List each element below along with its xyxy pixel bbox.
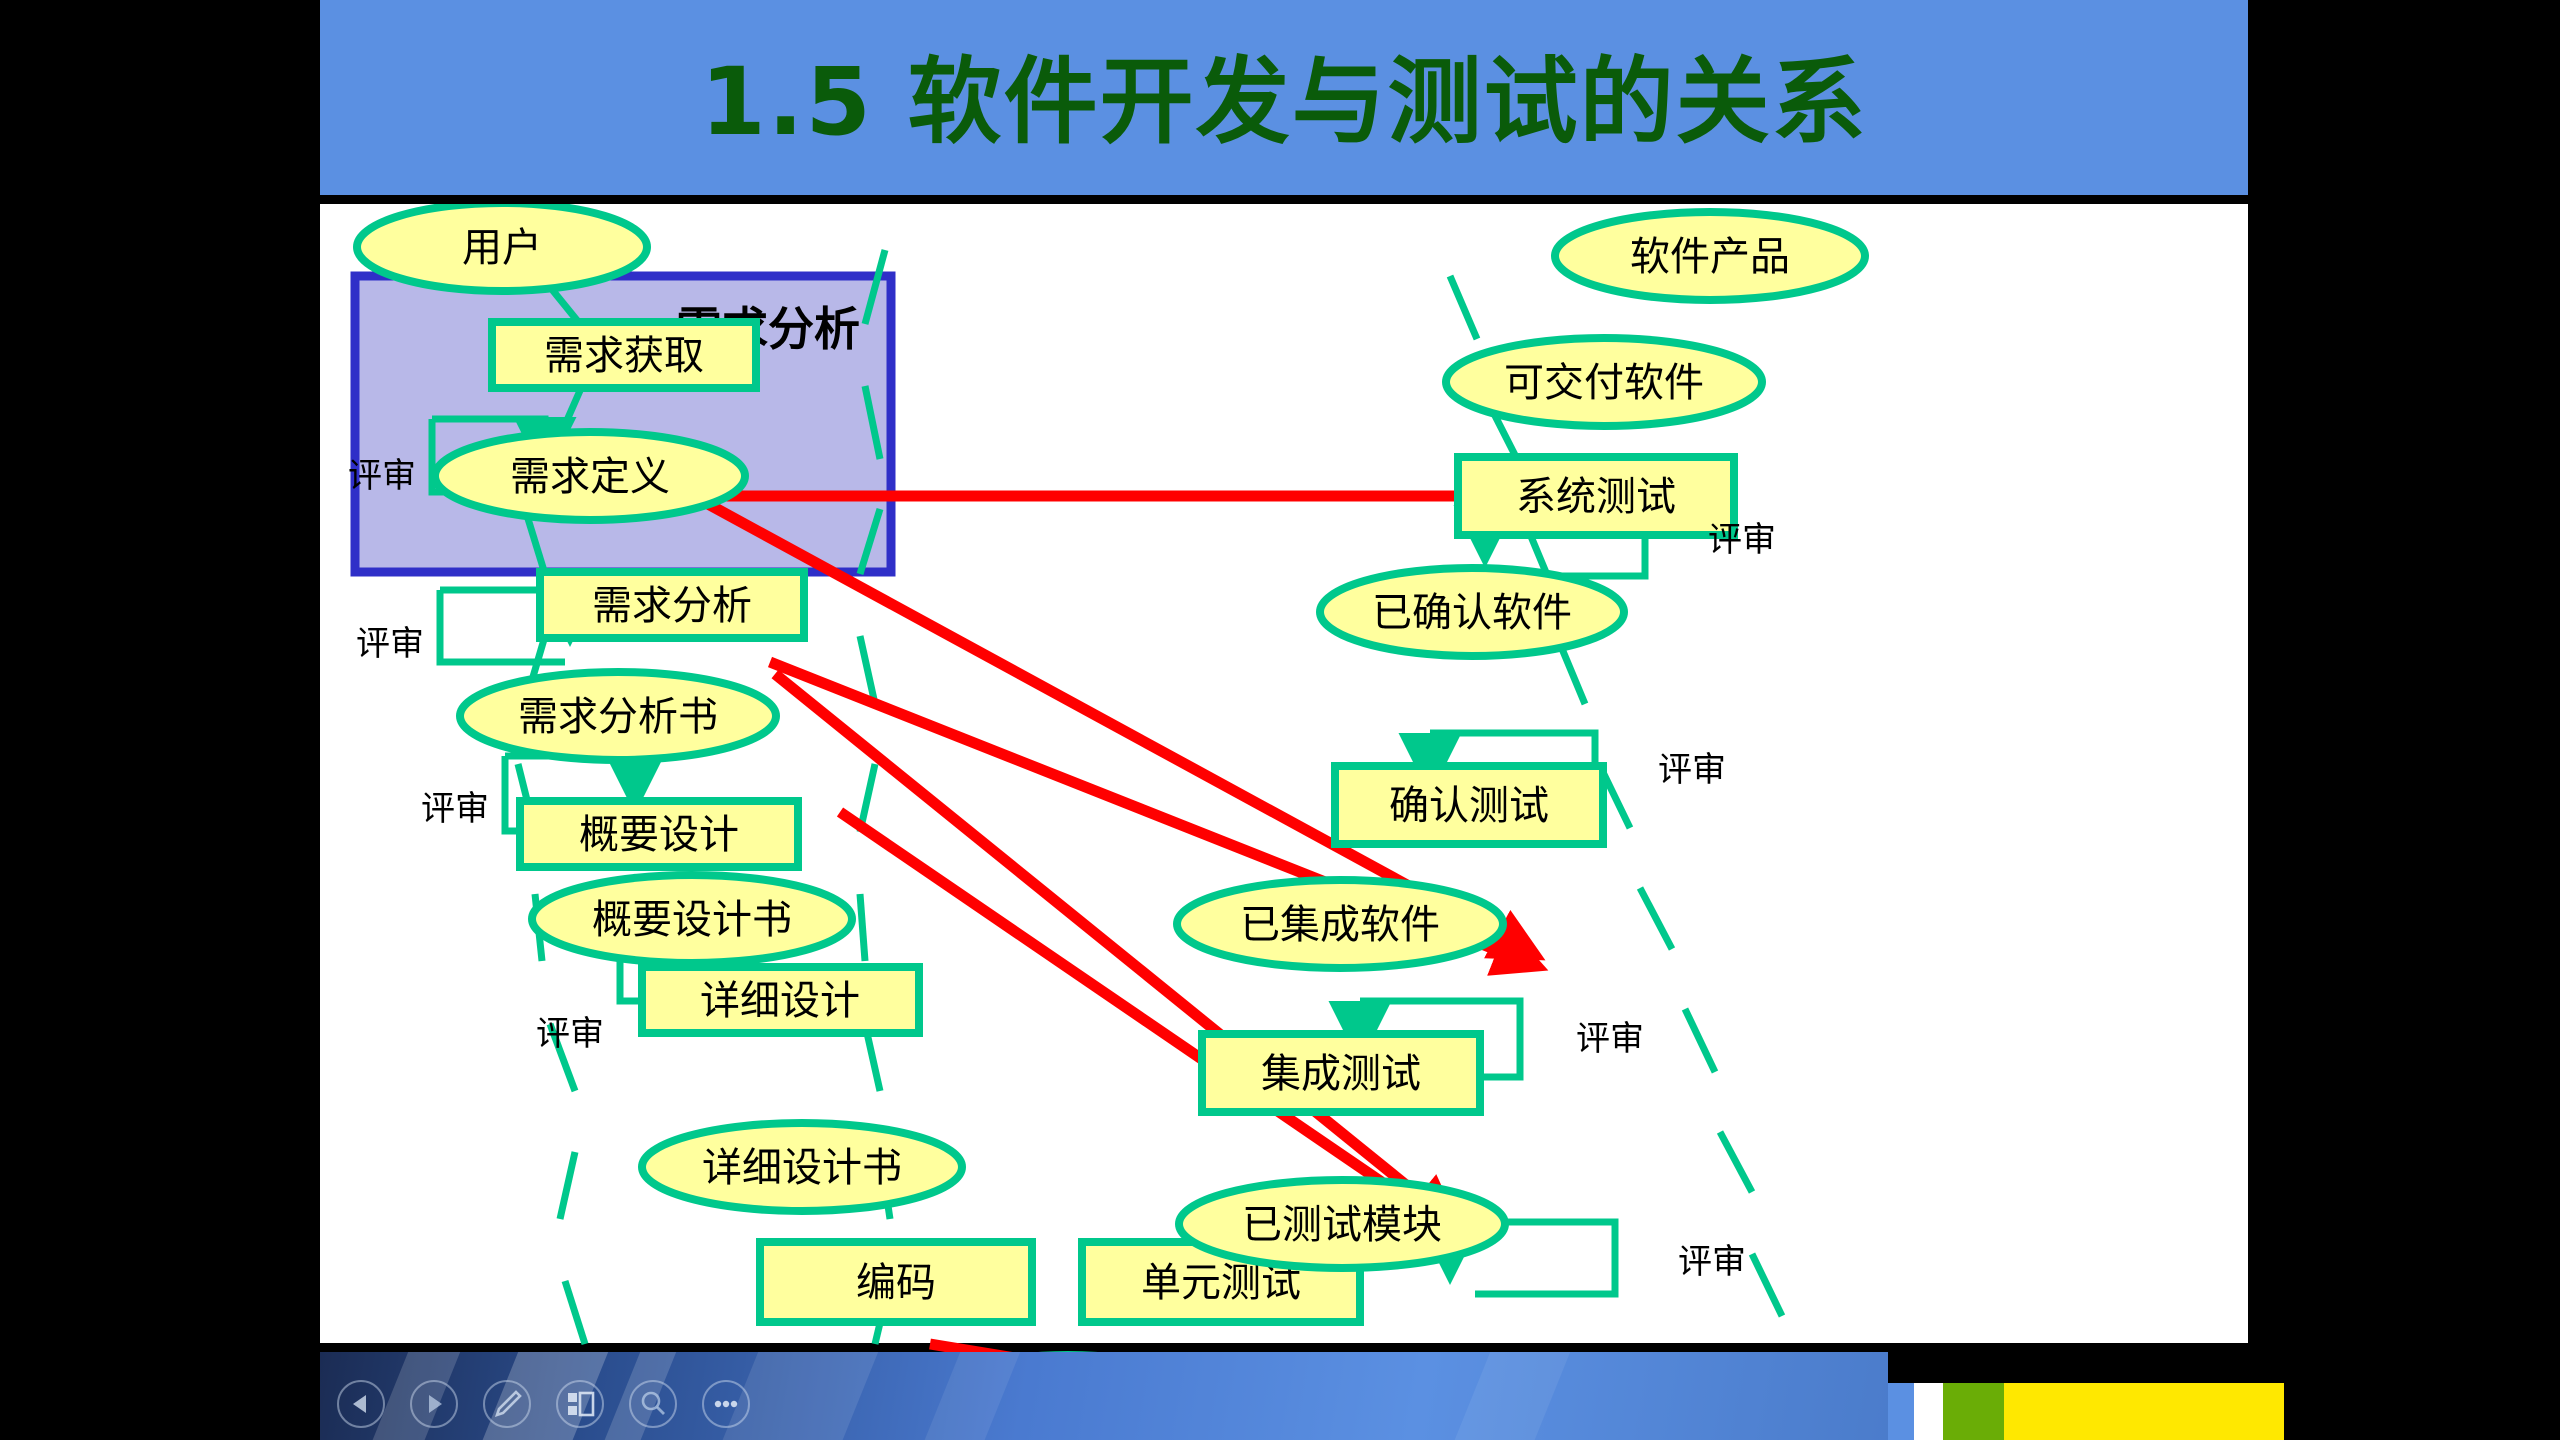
review-label-detail-doc: 评审 <box>536 1014 604 1054</box>
svg-text:可交付软件: 可交付软件 <box>1504 360 1704 406</box>
node-integration-test[interactable]: 集成测试 <box>1202 1034 1480 1112</box>
node-detail-design[interactable]: 详细设计 <box>642 967 919 1033</box>
review-label-req-doc: 评审 <box>356 624 424 664</box>
zoom-tool-button[interactable] <box>629 1380 677 1428</box>
node-integrated-sw[interactable]: 已集成软件 <box>1177 880 1503 968</box>
node-req-doc[interactable]: 需求分析书 <box>460 672 776 760</box>
svg-text:用户: 用户 <box>462 225 542 271</box>
magnifier-icon <box>631 1382 675 1426</box>
svg-text:已测试模块: 已测试模块 <box>1242 1202 1442 1248</box>
review-label-validated-sw: 评审 <box>1658 750 1726 790</box>
node-req-define[interactable]: 需求定义 <box>435 432 745 520</box>
node-req-elicit[interactable]: 需求获取 <box>492 322 756 388</box>
node-validation-test[interactable]: 确认测试 <box>1335 766 1603 844</box>
svg-text:需求分析: 需求分析 <box>592 583 752 629</box>
ellipsis-icon <box>704 1382 748 1426</box>
node-outline-doc[interactable]: 概要设计书 <box>532 875 852 963</box>
review-label-outline-doc: 评审 <box>421 789 489 829</box>
svg-text:确认测试: 确认测试 <box>1389 783 1549 829</box>
review-label-integrated-sw: 评审 <box>1576 1019 1644 1059</box>
grid-icon <box>558 1382 602 1426</box>
slide-stage: 1.5 软件开发与测试的关系 需求分析 <box>0 0 2560 1440</box>
pen-tool-button[interactable] <box>483 1380 531 1428</box>
svg-text:编码: 编码 <box>856 1260 936 1306</box>
svg-text:集成测试: 集成测试 <box>1261 1051 1421 1097</box>
svg-text:详细设计: 详细设计 <box>700 978 860 1024</box>
svg-text:需求定义: 需求定义 <box>510 454 670 500</box>
svg-text:已确认软件: 已确认软件 <box>1372 590 1572 636</box>
svg-text:已集成软件: 已集成软件 <box>1240 902 1440 948</box>
node-deliverable-sw[interactable]: 可交付软件 <box>1446 338 1762 426</box>
svg-text:概要设计: 概要设计 <box>579 812 739 858</box>
bottom-right-gap <box>1888 1343 2560 1383</box>
node-detail-doc[interactable]: 详细设计书 <box>642 1123 962 1211</box>
banner-divider <box>320 195 2248 204</box>
more-options-button[interactable] <box>702 1380 750 1428</box>
next-slide-button[interactable] <box>410 1380 458 1428</box>
slide-overview-button[interactable] <box>556 1380 604 1428</box>
triangle-right-icon <box>412 1382 456 1426</box>
node-outline-design[interactable]: 概要设计 <box>520 801 798 867</box>
node-validated-sw[interactable]: 已确认软件 <box>1320 568 1624 656</box>
node-system-test[interactable]: 系统测试 <box>1458 457 1734 535</box>
node-tested-module[interactable]: 已测试模块 <box>1179 1180 1505 1268</box>
swatch-green <box>1943 1383 2004 1440</box>
node-user[interactable]: 用户 <box>357 204 647 291</box>
review-label-tested-module: 评审 <box>1678 1242 1746 1282</box>
swatch-yellow <box>2004 1383 2284 1440</box>
review-label-req-define: 评审 <box>348 456 416 496</box>
svg-text:系统测试: 系统测试 <box>1516 474 1676 520</box>
swatch-white <box>1914 1383 1943 1440</box>
svg-text:软件产品: 软件产品 <box>1630 234 1790 280</box>
presentation-toolbar <box>320 1352 1888 1440</box>
review-label-deliverable-sw: 评审 <box>1708 520 1776 560</box>
node-req-analysis[interactable]: 需求分析 <box>540 572 804 638</box>
svg-text:需求分析书: 需求分析书 <box>518 694 718 740</box>
software-development-testing-flowchart: 需求分析 <box>320 204 2248 1384</box>
swatch-blue <box>1888 1383 1914 1440</box>
svg-text:详细设计书: 详细设计书 <box>702 1145 902 1191</box>
triangle-left-icon <box>339 1382 383 1426</box>
previous-slide-button[interactable] <box>337 1380 385 1428</box>
page-title: 1.5 软件开发与测试的关系 <box>320 28 2248 178</box>
svg-text:概要设计书: 概要设计书 <box>592 897 792 943</box>
node-software-product[interactable]: 软件产品 <box>1555 212 1865 300</box>
svg-text:需求获取: 需求获取 <box>544 333 704 379</box>
pen-icon <box>485 1382 529 1426</box>
node-coding[interactable]: 编码 <box>760 1242 1032 1322</box>
